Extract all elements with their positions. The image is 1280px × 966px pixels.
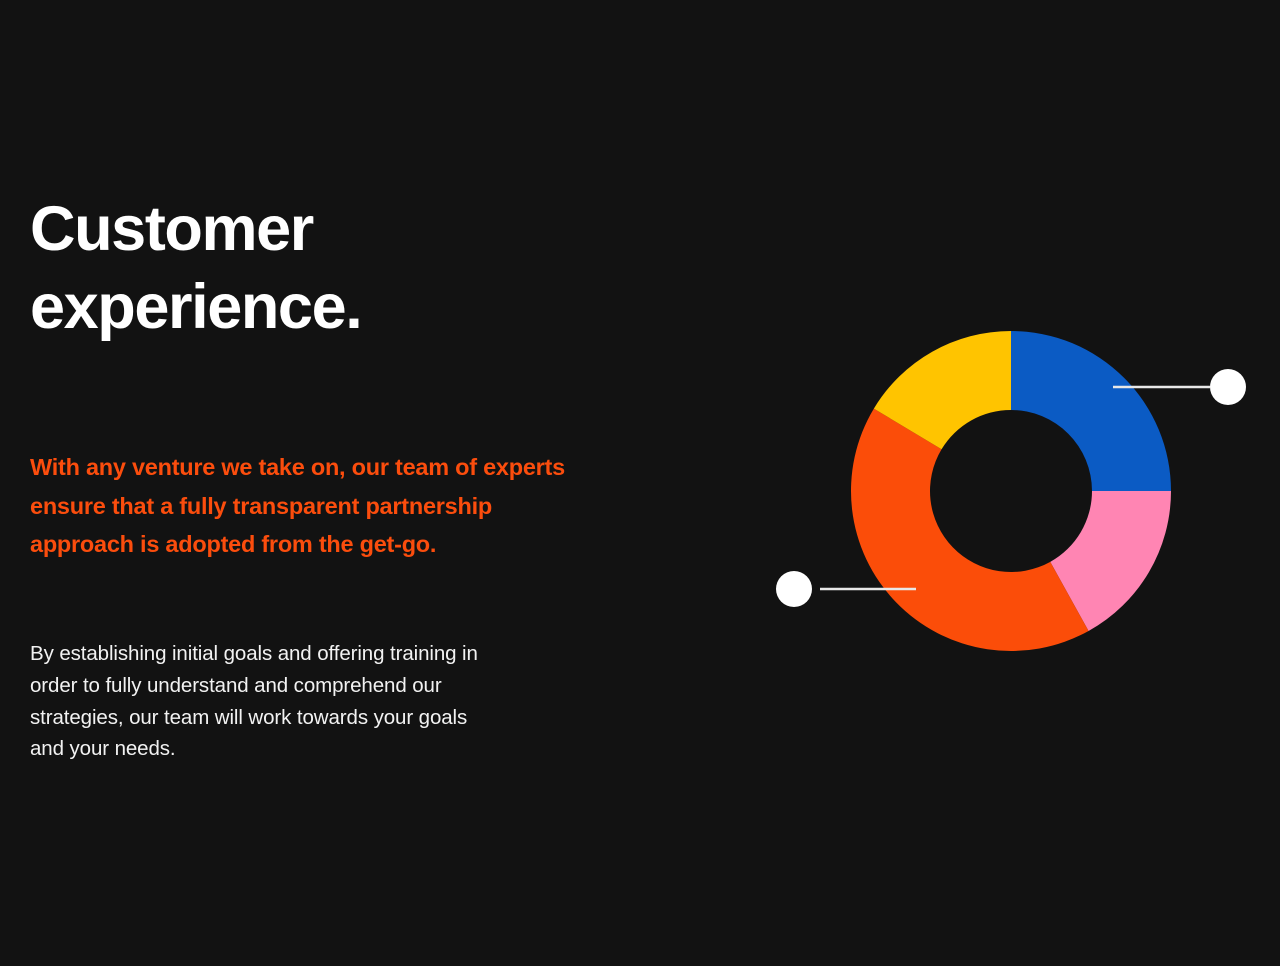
page-title-line-1: Customer bbox=[30, 190, 690, 268]
body-paragraph-line-1: By establishing initial goals and offeri… bbox=[30, 638, 630, 670]
orange-callout-dot[interactable] bbox=[776, 571, 812, 607]
donut-chart-svg bbox=[740, 300, 1280, 700]
text-column: Customer experience. With any venture we… bbox=[30, 0, 730, 966]
donut-slice-group bbox=[851, 331, 1171, 651]
donut-chart bbox=[740, 300, 1280, 700]
body-paragraph-line-2: order to fully understand and comprehend… bbox=[30, 670, 630, 702]
body-paragraph: By establishing initial goals and offeri… bbox=[30, 638, 630, 765]
body-paragraph-line-4: and your needs. bbox=[30, 733, 630, 765]
page-title: Customer experience. bbox=[30, 190, 690, 346]
donut-slice-3[interactable] bbox=[851, 409, 1089, 651]
blue-callout-dot[interactable] bbox=[1210, 369, 1246, 405]
lead-paragraph-line-2: ensure that a fully transparent partners… bbox=[30, 487, 710, 526]
lead-paragraph-line-1: With any venture we take on, our team of… bbox=[30, 448, 710, 487]
page-title-line-2: experience. bbox=[30, 268, 690, 346]
body-paragraph-line-3: strategies, our team will work towards y… bbox=[30, 702, 630, 734]
lead-paragraph: With any venture we take on, our team of… bbox=[30, 448, 710, 564]
lead-paragraph-line-3: approach is adopted from the get-go. bbox=[30, 525, 710, 564]
donut-slice-1[interactable] bbox=[1011, 331, 1171, 491]
slide-canvas: Customer experience. With any venture we… bbox=[0, 0, 1280, 966]
